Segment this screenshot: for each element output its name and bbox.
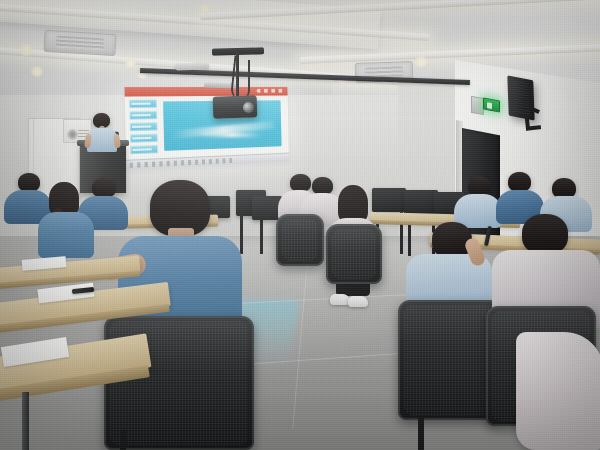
chair-empty-3[interactable] <box>372 188 406 212</box>
downlight-1 <box>18 44 34 56</box>
slide-header-bar <box>124 87 287 97</box>
chair-front-center-leg <box>120 430 126 450</box>
attendee-left-ponytail-torso <box>38 212 94 258</box>
downlight-3 <box>124 58 137 68</box>
slide-sidebar-item-5 <box>130 145 158 154</box>
chair-right-1-leg <box>418 418 424 450</box>
slide-sidebar-item-2 <box>129 111 157 120</box>
slide-sidebar-item-4 <box>130 134 158 143</box>
presenter-torso <box>87 128 117 152</box>
slide-header-dots-icon <box>257 89 284 93</box>
attendee-right-rear-head <box>468 176 491 196</box>
ac-vent-left <box>43 30 116 56</box>
attendee-center-longhair-shoe-r <box>348 296 368 307</box>
slide-sidebar <box>129 99 158 154</box>
attendee-right-rear-2-head <box>508 172 531 192</box>
chair-empty-1-leg2 <box>260 214 263 254</box>
track-lamp-1 <box>175 62 209 70</box>
slide <box>124 87 289 169</box>
projection-screen <box>124 87 289 169</box>
slide-sidebar-item-1 <box>129 99 157 108</box>
downlight-2 <box>30 66 44 77</box>
chair-occupied-center-2[interactable] <box>276 214 324 266</box>
chair-occupied-center[interactable] <box>326 224 382 284</box>
shirt-draped-on-chair <box>516 332 600 450</box>
table-leg-foreground <box>22 392 29 450</box>
downlight-7 <box>198 4 212 14</box>
projector-cable-2 <box>240 60 250 100</box>
slide-highlight-2 <box>201 132 262 137</box>
chair-empty-1-leg <box>240 214 243 254</box>
attendee-left-rear-head <box>92 178 116 198</box>
classroom-photo <box>0 0 600 450</box>
attendee-right-grey-head <box>522 214 568 254</box>
downlight-6 <box>414 56 428 67</box>
chair-empty-4[interactable] <box>404 190 438 214</box>
wall-speaker <box>507 75 534 120</box>
slide-sidebar-item-3 <box>130 122 158 131</box>
attendee-center-longhair-shoe-l <box>330 294 350 305</box>
placard-symbol-icon <box>67 129 78 140</box>
